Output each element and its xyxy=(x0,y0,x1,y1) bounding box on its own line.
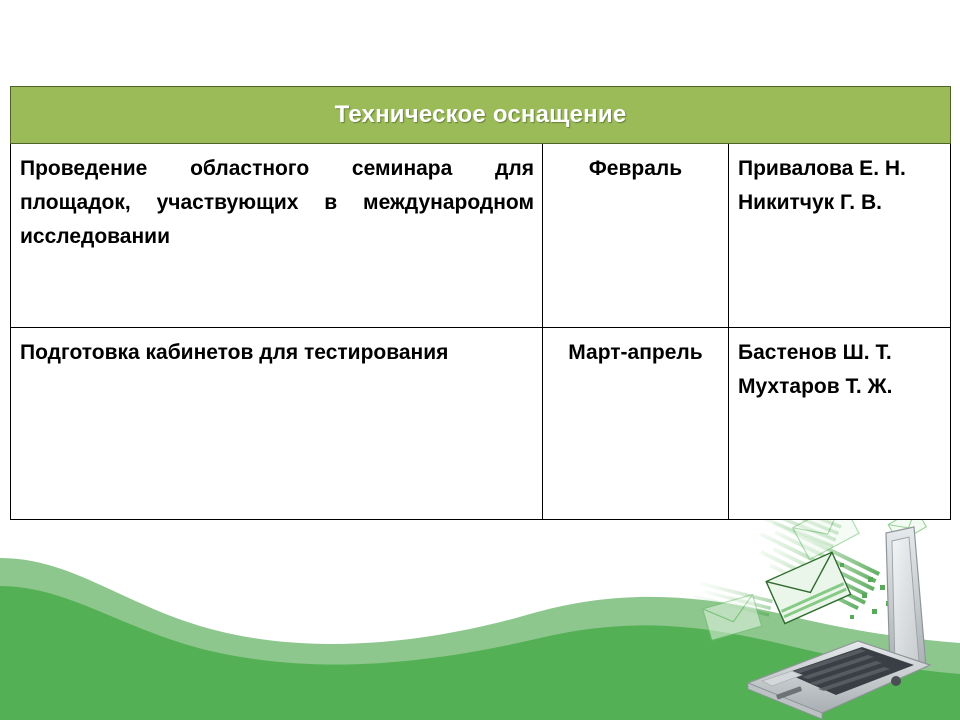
responsible-name: Привалова Е. Н. xyxy=(738,152,942,186)
technical-equipment-table: Техническое оснащение Проведение областн… xyxy=(10,86,951,520)
responsible-name: Мухтаров Т. Ж. xyxy=(738,370,942,404)
laptop-front-edge xyxy=(748,683,822,719)
wave-back-path xyxy=(0,558,960,720)
table-title: Техническое оснащение xyxy=(11,87,951,144)
slide-canvas: Техническое оснащение Проведение областн… xyxy=(0,0,960,720)
laptop-screen-lid xyxy=(886,527,926,673)
table-row: Проведение областного семинара для площа… xyxy=(11,144,951,328)
table-row: Подготовка кабинетов для тестирования Ма… xyxy=(11,328,951,520)
laptop-graphic xyxy=(748,527,930,719)
row-1-term-cell: Февраль xyxy=(543,144,729,328)
responsible-name: Никитчук Г. В. xyxy=(738,186,942,220)
laptop-email-artwork xyxy=(690,505,960,720)
laptop-screen-panel xyxy=(892,537,919,665)
email-motion-streaks xyxy=(693,505,898,619)
pixel-dots xyxy=(840,563,898,619)
keyboard-keys xyxy=(794,649,890,691)
envelope-icon-left xyxy=(703,594,762,640)
row-1-responsible-cell: Привалова Е. Н. Никитчук Г. В. xyxy=(729,144,951,328)
laptop-slot xyxy=(776,686,802,700)
wave-front-path xyxy=(0,586,960,720)
row-2-term-cell: Март-апрель xyxy=(543,328,729,520)
technical-equipment-table-wrapper: Техническое оснащение Проведение областн… xyxy=(10,86,950,520)
laptop-base xyxy=(748,641,930,713)
envelope-icon-large xyxy=(766,552,850,623)
decorative-wave-graphic xyxy=(0,540,960,720)
responsible-name: Бастенов Ш. Т. xyxy=(738,336,942,370)
row-2-task-cell: Подготовка кабинетов для тестирования xyxy=(11,328,543,520)
laptop-port xyxy=(891,676,901,686)
row-1-task-cell: Проведение областного семинара для площа… xyxy=(11,144,543,328)
laptop-touchpad xyxy=(762,671,802,686)
laptop-keyboard xyxy=(786,647,914,695)
row-2-responsible-cell: Бастенов Ш. Т. Мухтаров Т. Ж. xyxy=(729,328,951,520)
table-header-row: Техническое оснащение xyxy=(11,87,951,144)
